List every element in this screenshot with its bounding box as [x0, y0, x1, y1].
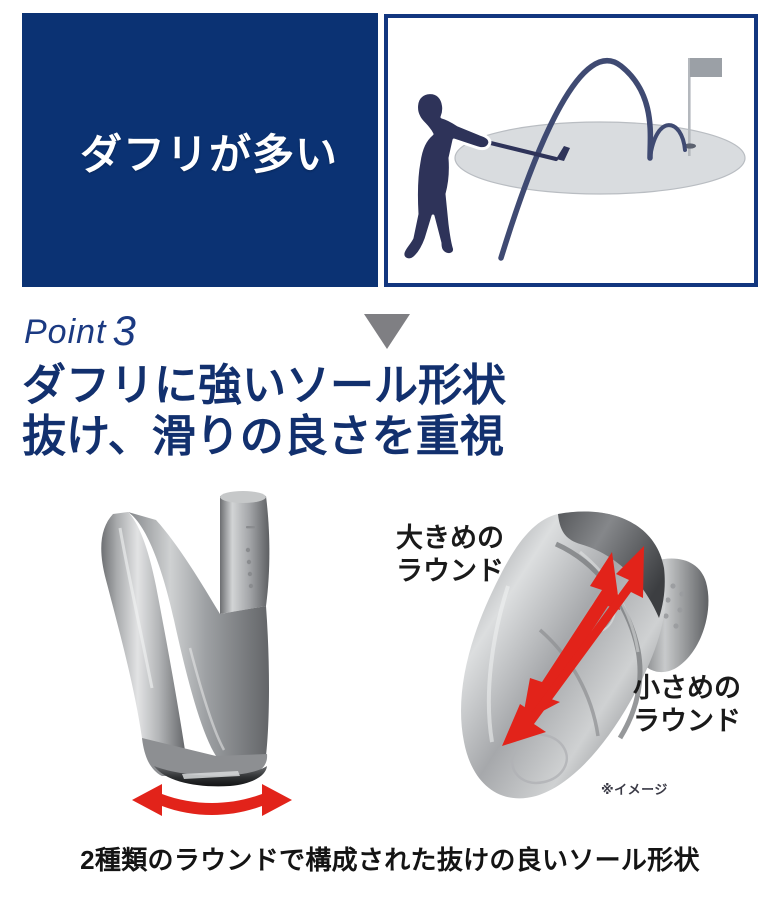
callout-small-round-line-2: ラウンド [633, 705, 741, 738]
hero-banner-title: ダフリが多い [80, 121, 338, 182]
headline-line-1: ダフリに強いソール形状 [22, 360, 762, 411]
down-triangle-icon [364, 314, 410, 349]
club-hosel [220, 496, 269, 614]
point-label-text: Point [24, 313, 107, 351]
callout-large-round: 大きめの ラウンド [358, 522, 504, 588]
headline-line-2: 抜け、滑りの良さを重視 [22, 411, 762, 462]
club-head-toe-view [70, 488, 370, 818]
callout-small-round: 小さめの ラウンド [633, 672, 741, 738]
point-label: Point3 [24, 307, 137, 355]
headline: ダフリに強いソール形状 抜け、滑りの良さを重視 [22, 360, 762, 462]
hosel-top [220, 491, 266, 503]
sole-width-double-arrow [132, 784, 292, 816]
bottom-caption: 2種類のラウンドで構成された抜けの良いソール形状 [0, 840, 780, 877]
image-disclaimer-note: ※イメージ [601, 779, 668, 798]
point-number: 3 [113, 307, 137, 354]
golfer-fat-shot-illustration [388, 18, 754, 283]
hero-illustration-frame [384, 14, 758, 287]
callout-large-round-line-2: ラウンド [358, 555, 504, 588]
green-ellipse [455, 122, 745, 194]
callout-large-round-line-1: 大きめの [358, 522, 504, 555]
callout-small-round-line-1: 小さめの [633, 672, 741, 705]
hero-banner: ダフリが多い [22, 13, 378, 287]
